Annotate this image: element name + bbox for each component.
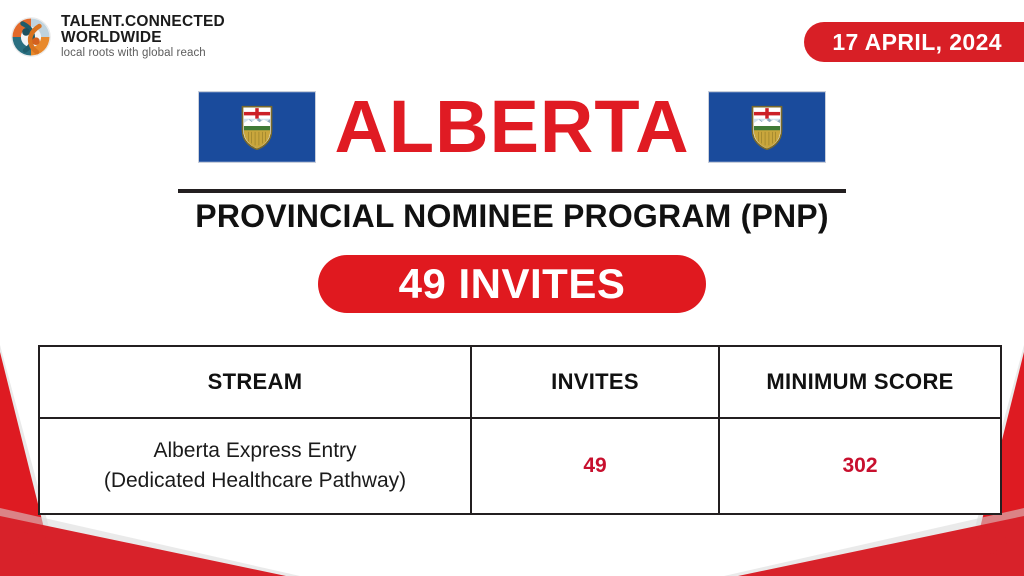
maple-leaf-icon xyxy=(14,524,50,562)
column-header-invites: INVITES xyxy=(471,346,719,418)
alberta-flag-icon xyxy=(708,91,826,163)
cell-stream: Alberta Express Entry (Dedicated Healthc… xyxy=(39,418,471,514)
column-header-minimum-score: MINIMUM SCORE xyxy=(719,346,1001,418)
results-table: STREAM INVITES MINIMUM SCORE Alberta Exp… xyxy=(38,345,1002,515)
talent-connected-globe-icon xyxy=(10,16,52,58)
table-row: Alberta Express Entry (Dedicated Healthc… xyxy=(39,418,1001,514)
alberta-flag-icon xyxy=(198,91,316,163)
date-badge: 17 APRIL, 2024 xyxy=(804,22,1024,62)
infographic-canvas: TALENT.CONNECTED WORLDWIDE local roots w… xyxy=(0,0,1024,576)
cell-minimum-score: 302 xyxy=(719,418,1001,514)
brand-name-line2: WORLDWIDE xyxy=(61,30,225,46)
title-row: ALBERTA xyxy=(0,88,1024,166)
brand-tagline: local roots with global reach xyxy=(61,48,225,60)
column-header-stream: STREAM xyxy=(39,346,471,418)
stream-name-line1: Alberta Express Entry xyxy=(153,439,356,462)
maple-leaf-icon xyxy=(974,524,1010,562)
title-divider xyxy=(178,189,846,193)
page-subtitle: PROVINCIAL NOMINEE PROGRAM (PNP) xyxy=(0,198,1024,235)
cell-invites: 49 xyxy=(471,418,719,514)
brand-name-line1: TALENT.CONNECTED xyxy=(61,14,225,30)
invites-badge: 49 INVITES xyxy=(318,255,706,313)
stream-name-line2: (Dedicated Healthcare Pathway) xyxy=(104,469,406,492)
table-header-row: STREAM INVITES MINIMUM SCORE xyxy=(39,346,1001,418)
brand-logo: TALENT.CONNECTED WORLDWIDE local roots w… xyxy=(10,14,225,60)
page-title: ALBERTA xyxy=(334,90,689,164)
